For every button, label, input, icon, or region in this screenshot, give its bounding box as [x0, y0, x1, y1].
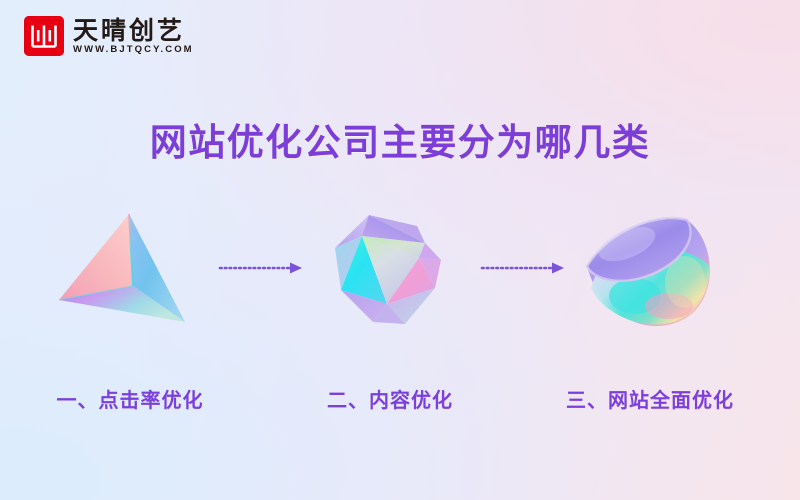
hemisphere-3d-icon [565, 196, 735, 346]
page-title: 网站优化公司主要分为哪几类 [0, 122, 800, 165]
arrow-step2-to-step3 [480, 260, 568, 276]
tetrahedron-3d-icon [45, 196, 215, 346]
slide-canvas: 天晴创艺 WWW.BJTQCY.COM 网站优化公司主要分为哪几类 [0, 0, 800, 500]
step-caption-2: 二、内容优化 [260, 386, 520, 414]
logo-company-name: 天晴创艺 [73, 18, 194, 43]
logo-text-block: 天晴创艺 WWW.BJTQCY.COM [73, 18, 194, 55]
logo-website-url: WWW.BJTQCY.COM [73, 45, 194, 55]
brand-logo[interactable]: 天晴创艺 WWW.BJTQCY.COM [24, 16, 194, 56]
tianqing-chuangyi-logo-icon [24, 16, 64, 56]
steps-caption-row: 一、点击率优化 二、内容优化 三、网站全面优化 [0, 386, 800, 418]
steps-illustration-row [0, 196, 800, 346]
arrow-step1-to-step2 [218, 260, 306, 276]
step-caption-3: 三、网站全面优化 [520, 386, 780, 414]
polyhedron-3d-icon [305, 196, 475, 346]
step-caption-1: 一、点击率优化 [0, 386, 260, 414]
